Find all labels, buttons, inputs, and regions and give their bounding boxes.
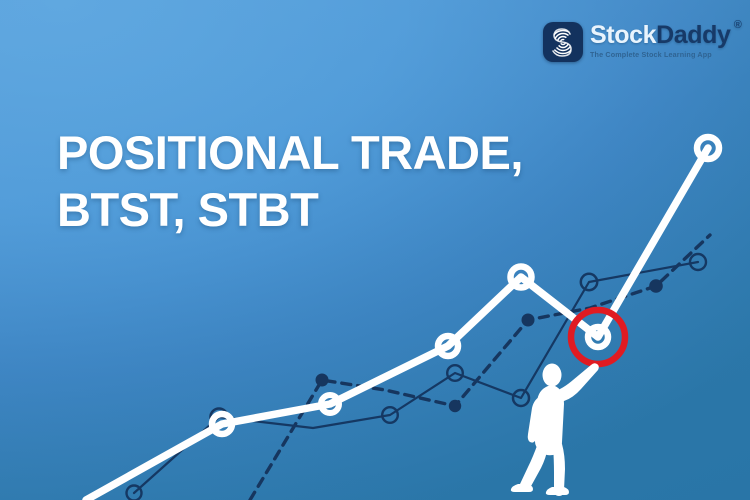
page-title-line1: POSITIONAL TRADE, — [57, 126, 523, 179]
logo-name-part2: Daddy — [656, 21, 730, 49]
page-title: POSITIONAL TRADE, BTST, STBT — [57, 124, 523, 239]
logo-name: StockDaddy ® — [590, 23, 731, 48]
person-pointing-icon — [0, 0, 750, 500]
stockdaddy-logo[interactable]: StockDaddy ® The Complete Stock Learning… — [543, 22, 731, 62]
logo-wordmark: StockDaddy ® The Complete Stock Learning… — [590, 22, 731, 59]
registered-trademark-icon: ® — [734, 20, 742, 31]
page-title-line2: BTST, STBT — [57, 181, 523, 238]
logo-tagline: The Complete Stock Learning App — [590, 50, 731, 59]
logo-name-part1: Stock — [590, 21, 656, 49]
stockdaddy-s-monogram-icon — [543, 22, 583, 62]
promo-banner: POSITIONAL TRADE, BTST, STBT — [0, 0, 750, 500]
